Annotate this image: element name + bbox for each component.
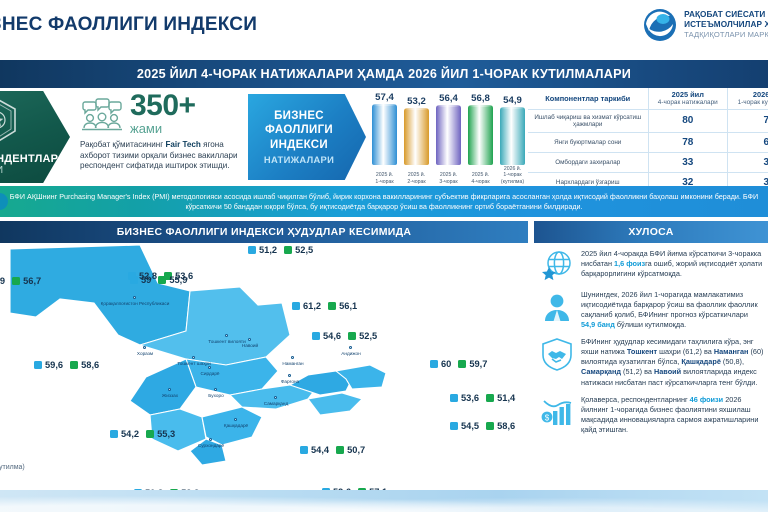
map-name-11: Самарқанд bbox=[252, 401, 300, 407]
table-row: Янги буюртмалар сони7868 bbox=[528, 133, 768, 153]
map-name-3: Бухоро bbox=[196, 393, 236, 399]
region-value-2025-4: 59 bbox=[141, 275, 151, 285]
bar-column-0 bbox=[372, 104, 397, 165]
component-q1-2026-2: 37 bbox=[728, 153, 768, 173]
index-label-line-3: ИНДЕКСИ bbox=[270, 138, 328, 152]
region-value-2026-10: 55,3 bbox=[157, 429, 175, 439]
state-emblem-icon bbox=[0, 97, 22, 147]
index-results-label: БИЗНЕС ФАОЛЛИГИ ИНДЕКСИ НАТИЖАЛАРИ bbox=[248, 94, 366, 180]
respondents-badge-line-2: ТАРКИБИ bbox=[0, 165, 3, 176]
swatch-2026-12 bbox=[336, 446, 344, 454]
logo-line-3: ТАДҚИҚОТЛАРИ МАРКАЗИ bbox=[684, 30, 768, 39]
bar-column-2 bbox=[436, 105, 461, 165]
uzbekistan-map-shape bbox=[0, 243, 460, 469]
region-value-2025-5: 61,2 bbox=[303, 301, 321, 311]
swatch-2025-5 bbox=[292, 302, 300, 310]
components-col-header-0: Компонентлар таркиби bbox=[528, 88, 648, 110]
region-value-2026-1: 58,6 bbox=[81, 360, 99, 370]
map-region-label-4: 5955,9 bbox=[130, 275, 187, 285]
methodology-note: БФИ АҚШнинг Purchasing Manager's Index (… bbox=[0, 186, 768, 217]
region-value-2026-12: 50,7 bbox=[347, 445, 365, 455]
conclusion-text-2: БФИнинг ҳудудлар кесимидаги таҳлилига кў… bbox=[581, 337, 764, 387]
svg-text:$: $ bbox=[545, 413, 550, 422]
infographic-page: БИЗНЕС ФАОЛЛИГИ ИНДЕКСИ РАҚОБАТ СИЁСАТИ … bbox=[0, 0, 768, 512]
map-section-title: БИЗНЕС ФАОЛЛИГИ ИНДЕКСИ ҲУДУДЛАР КЕСИМИД… bbox=[117, 226, 412, 238]
banner-text: 2025 ЙИЛ 4-ЧОРАК НАТИЖАЛАРИ ҲАМДА 2026 Й… bbox=[137, 67, 631, 81]
component-label-2: Омбордаги захиралар bbox=[528, 153, 648, 173]
page-footer bbox=[0, 490, 768, 512]
region-value-2025-10: 54,2 bbox=[121, 429, 139, 439]
region-value-2025-6: 54,6 bbox=[323, 331, 341, 341]
map-region-label-7: 6059,7 bbox=[430, 359, 487, 369]
swatch-2026-3 bbox=[284, 246, 292, 254]
swatch-2025-3 bbox=[248, 246, 256, 254]
conclusion-item-3: $ Қолаверса, респондентларнинг 46 фоизи … bbox=[540, 395, 764, 435]
map-legend: 2025 йил(4-чорак) 2026 йил(1-чорак кутил… bbox=[0, 428, 25, 476]
swatch-2025-4 bbox=[130, 276, 138, 284]
swatch-2026-9 bbox=[486, 422, 494, 430]
conclusions-panel: 2025 йил 4-чоракда БФИ йиғма кўрсаткичи … bbox=[534, 243, 768, 490]
swatch-2026-6 bbox=[348, 332, 356, 340]
component-q4-2025-0: 80 bbox=[648, 110, 728, 133]
region-value-2025-1: 59,6 bbox=[45, 360, 63, 370]
region-value-2025-8: 53,6 bbox=[461, 393, 479, 403]
map-region-label-5: 61,256,1 bbox=[292, 301, 357, 311]
legend-item-1: 2026 йил(1-чорак кутилма) bbox=[0, 452, 25, 472]
map-region-label-9: 54,558,6 bbox=[450, 421, 515, 431]
table-row: Ишлаб чиқариш ва хизмат кўрсатиш ҳажмлар… bbox=[528, 110, 768, 133]
logo-mark-icon bbox=[643, 8, 677, 42]
legend-item-0: 2025 йил(4-чорак) bbox=[0, 428, 25, 448]
respondents-badge-line-1: РЕСПОНДЕНТЛАР bbox=[0, 153, 58, 165]
map-name-5: Сирдарё bbox=[190, 371, 230, 377]
region-value-2026-6: 52,5 bbox=[359, 331, 377, 341]
map-name-10: Фарғона bbox=[270, 379, 310, 385]
map-name-13: Сурхондарё bbox=[186, 443, 236, 449]
page-header: БИЗНЕС ФАОЛЛИГИ ИНДЕКСИ РАҚОБАТ СИЁСАТИ … bbox=[0, 0, 768, 56]
swatch-2025-8 bbox=[450, 394, 458, 402]
swatch-2026-8 bbox=[486, 394, 494, 402]
map-name-9: Андижон bbox=[330, 351, 372, 357]
map-region-label-0: 56,956,7 bbox=[0, 276, 41, 286]
map-section-header: БИЗНЕС ФАОЛЛИГИ ИНДЕКСИ ҲУДУДЛАР КЕСИМИД… bbox=[0, 221, 528, 243]
map-region-label-10: 54,255,3 bbox=[110, 429, 175, 439]
region-value-2025-3: 51,2 bbox=[259, 245, 277, 255]
quarterly-index-bar-chart: 57,42025 й.1-чорак53,22025 й.2-чорак56,4… bbox=[368, 90, 526, 185]
map-name-4: Жиззах bbox=[150, 393, 190, 399]
map-name-6: Тошкент шаҳри bbox=[168, 361, 220, 367]
index-label-line-2: ФАОЛЛИГИ bbox=[265, 123, 333, 137]
swatch-2026-10 bbox=[146, 430, 154, 438]
region-value-2025-0: 56,9 bbox=[0, 276, 5, 286]
components-col-header-1: 2025 йил 4-чорак натижалари bbox=[648, 88, 728, 110]
map-region-label-1: 59,658,6 bbox=[34, 360, 99, 370]
region-value-2026-7: 59,7 bbox=[469, 359, 487, 369]
conclusion-item-1: Шунингдек, 2026 йил 1-чорагида мамлакати… bbox=[540, 290, 764, 330]
table-row: Омбордаги захиралар3337 bbox=[528, 153, 768, 173]
respondents-description: Рақобат қўмитасининг Fair Tech ягона ахб… bbox=[80, 140, 250, 173]
legend-sub-1: (1-чорак кутилма) bbox=[0, 464, 25, 471]
conclusions-section-header: ХУЛОСА bbox=[534, 221, 768, 243]
map-region-label-12: 54,450,7 bbox=[300, 445, 365, 455]
region-value-2025-7: 60 bbox=[441, 359, 451, 369]
bar-caption-4: 2026 й.1-чорак(кутилма) bbox=[494, 166, 531, 186]
component-label-1: Янги буюртмалар сони bbox=[528, 133, 648, 153]
swatch-2025-1 bbox=[34, 361, 42, 369]
bar-column-3 bbox=[468, 105, 493, 165]
map-name-0: Қорақалпоғистон Республикаси bbox=[100, 301, 170, 307]
bar-chart-dollar-icon: $ bbox=[540, 395, 574, 429]
conclusion-text-3: Қолаверса, респондентларнинг 46 фоизи 20… bbox=[581, 395, 764, 435]
respondents-count: 350+ bbox=[130, 92, 196, 121]
respondents-count-label: жами bbox=[130, 122, 196, 136]
region-value-2026-8: 51,4 bbox=[497, 393, 515, 403]
swatch-2025-7 bbox=[430, 360, 438, 368]
conclusion-item-0: 2025 йил 4-чоракда БФИ йиғма кўрсаткичи … bbox=[540, 249, 764, 283]
conclusions-section-title: ХУЛОСА bbox=[628, 226, 673, 238]
swatch-2025-9 bbox=[450, 422, 458, 430]
organization-logo: РАҚОБАТ СИЁСАТИ ВА ИСТЕЪМОЛЧИЛАР ҲУҚУҚЛА… bbox=[643, 8, 768, 42]
map-name-7: Тошкент вилояти bbox=[200, 339, 254, 345]
respondents-desc-pre: Рақобат қўмитасининг bbox=[80, 140, 165, 149]
swatch-2025-12 bbox=[300, 446, 308, 454]
map-name-8: Наманган bbox=[270, 361, 316, 367]
component-label-0: Ишлаб чиқариш ва хизмат кўрсатиш ҳажмлар… bbox=[528, 110, 648, 133]
region-value-2025-9: 54,5 bbox=[461, 421, 479, 431]
map-region-label-8: 53,651,4 bbox=[450, 393, 515, 403]
region-value-2026-0: 56,7 bbox=[23, 276, 41, 286]
regional-map: Қорақалпоғистон РеспубликасиХоразмНавоий… bbox=[0, 243, 528, 490]
bar-column-1 bbox=[404, 108, 429, 165]
swatch-2026-0 bbox=[12, 277, 20, 285]
swatch-2025-6 bbox=[312, 332, 320, 340]
page-title: БИЗНЕС ФАОЛЛИГИ ИНДЕКСИ bbox=[0, 14, 257, 36]
respondents-block: 350+ жами Рақобат қўмитасининг Fair Tech… bbox=[80, 92, 250, 172]
map-region-label-3: 51,252,5 bbox=[248, 245, 313, 255]
logo-line-2: ИСТЕЪМОЛЧИЛАР ҲУҚУҚЛАРИ bbox=[684, 20, 768, 30]
region-value-2026-5: 56,1 bbox=[339, 301, 357, 311]
swatch-2026-5 bbox=[328, 302, 336, 310]
respondents-desc-bold: Fair Tech bbox=[165, 140, 200, 149]
top-panel: РЕСПОНДЕНТЛАР ТАРКИБИ bbox=[0, 88, 768, 185]
map-region-label-6: 54,652,5 bbox=[312, 331, 377, 341]
map-name-12: Қашқадарё bbox=[212, 423, 260, 429]
swatch-2025-10 bbox=[110, 430, 118, 438]
swatch-2026-1 bbox=[70, 361, 78, 369]
globe-star-icon bbox=[540, 249, 574, 283]
component-q1-2026-1: 68 bbox=[728, 133, 768, 153]
conclusion-text-1: Шунингдек, 2026 йил 1-чорагида мамлакати… bbox=[581, 290, 764, 330]
bar-column-4 bbox=[500, 107, 525, 165]
conclusion-item-2: БФИнинг ҳудудлар кесимидаги таҳлилига кў… bbox=[540, 337, 764, 387]
swatch-2026-7 bbox=[458, 360, 466, 368]
components-col-header-2: 2026 йил 1-чорак кутилмалари bbox=[728, 88, 768, 110]
people-group-icon bbox=[80, 96, 124, 134]
region-value-2025-12: 54,4 bbox=[311, 445, 329, 455]
index-label-line-1: БИЗНЕС bbox=[274, 109, 324, 123]
main-banner: 2025 ЙИЛ 4-ЧОРАК НАТИЖАЛАРИ ҲАМДА 2026 Й… bbox=[0, 60, 768, 88]
region-value-2026-9: 58,6 bbox=[497, 421, 515, 431]
shield-handshake-icon bbox=[540, 337, 574, 371]
component-q1-2026-0: 77 bbox=[728, 110, 768, 133]
map-name-1: Хоразм bbox=[125, 351, 165, 357]
index-label-line-4: НАТИЖАЛАРИ bbox=[264, 154, 334, 165]
region-value-2026-3: 52,5 bbox=[295, 245, 313, 255]
component-q4-2025-2: 33 bbox=[648, 153, 728, 173]
swatch-2026-4 bbox=[158, 276, 166, 284]
conclusion-text-0: 2025 йил 4-чоракда БФИ йиғма кўрсаткичи … bbox=[581, 249, 764, 283]
respondents-badge: РЕСПОНДЕНТЛАР ТАРКИБИ bbox=[0, 91, 70, 183]
logo-line-1: РАҚОБАТ СИЁСАТИ ВА bbox=[684, 10, 768, 20]
methodology-note-text: БФИ АҚШнинг Purchasing Manager's Index (… bbox=[6, 192, 762, 211]
component-q4-2025-1: 78 bbox=[648, 133, 728, 153]
region-value-2026-4: 55,9 bbox=[169, 275, 187, 285]
person-icon bbox=[540, 290, 574, 324]
